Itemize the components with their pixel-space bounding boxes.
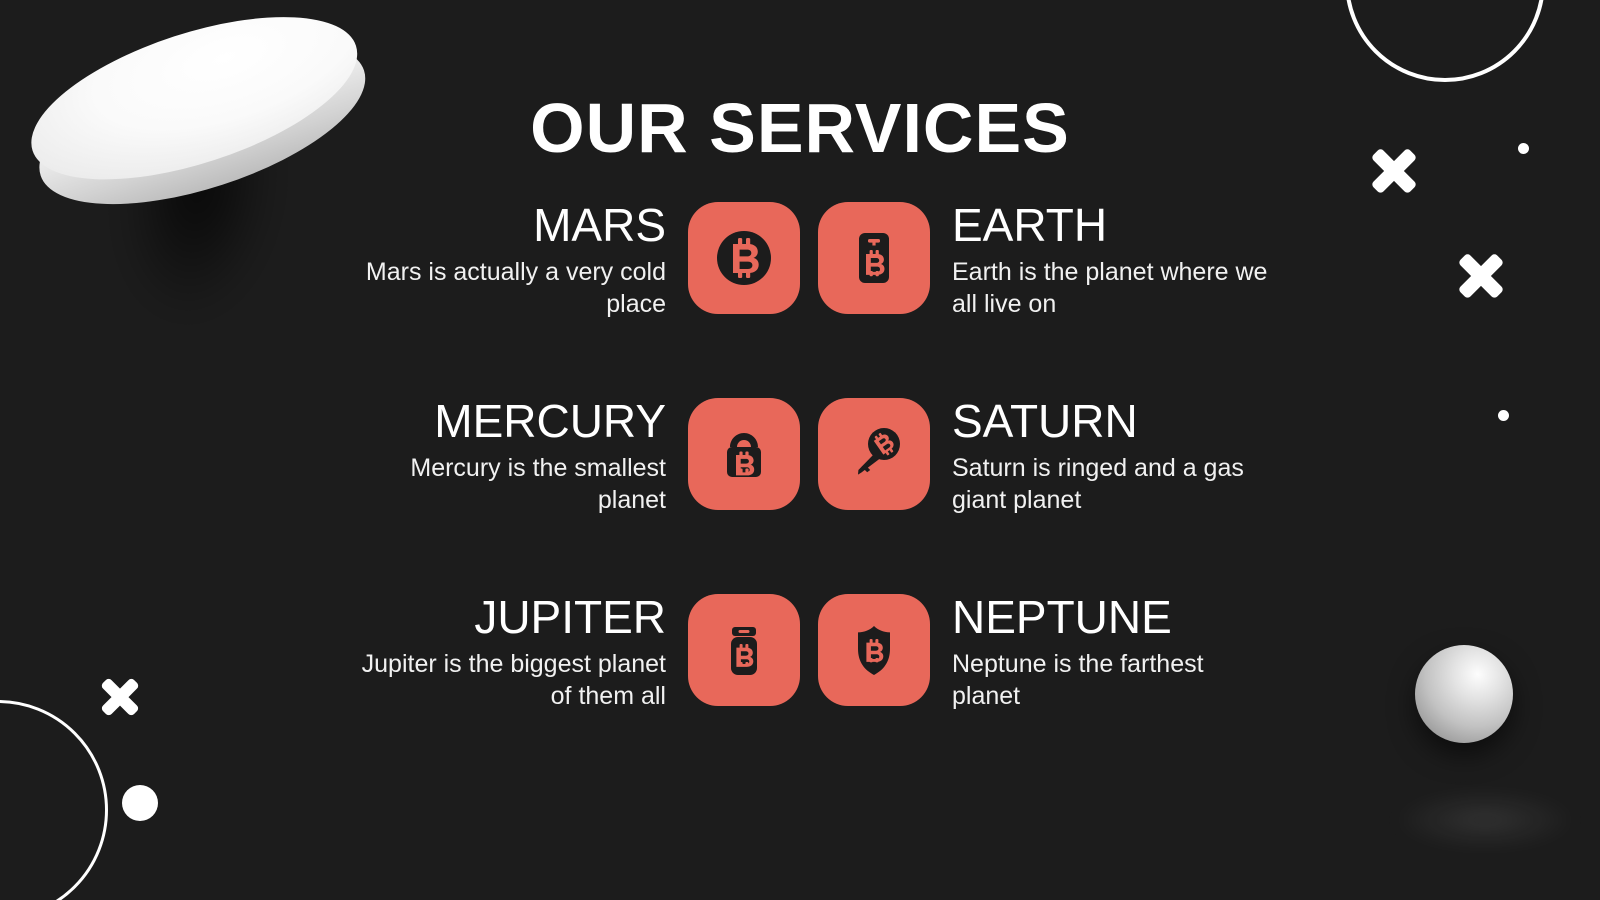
grey-3d-sphere <box>1415 645 1513 743</box>
service-title: EARTH <box>952 202 1272 250</box>
service-description: Mercury is the smallest planet <box>346 452 666 516</box>
bitcoin-card-icon[interactable] <box>818 202 930 314</box>
service-description: Saturn is ringed and a gas giant planet <box>952 452 1272 516</box>
service-description: Earth is the planet where we all live on <box>952 256 1272 320</box>
service-text: SATURN Saturn is ringed and a gas giant … <box>930 392 1272 516</box>
service-item-jupiter[interactable]: JUPITER Jupiter is the biggest planet of… <box>250 588 800 784</box>
slide-canvas: OUR SERVICES MARS Mars is actually a ver… <box>0 0 1600 900</box>
service-item-mercury[interactable]: MERCURY Mercury is the smallest planet <box>250 392 800 588</box>
service-text: MERCURY Mercury is the smallest planet <box>346 392 688 516</box>
service-item-neptune[interactable]: NEPTUNE Neptune is the farthest planet <box>800 588 1350 784</box>
service-description: Mars is actually a very cold place <box>346 256 666 320</box>
service-text: JUPITER Jupiter is the biggest planet of… <box>346 588 688 712</box>
bitcoin-padlock-icon[interactable] <box>688 398 800 510</box>
service-item-saturn[interactable]: SATURN Saturn is ringed and a gas giant … <box>800 392 1350 588</box>
service-text: EARTH Earth is the planet where we all l… <box>930 196 1272 320</box>
services-row: MERCURY Mercury is the smallest planet <box>250 392 1350 588</box>
dot-large <box>122 785 158 821</box>
service-description: Neptune is the farthest planet <box>952 648 1272 712</box>
service-description: Jupiter is the biggest planet of them al… <box>346 648 666 712</box>
sphere-glow <box>1390 790 1580 850</box>
bitcoin-jar-icon[interactable] <box>688 594 800 706</box>
service-title: SATURN <box>952 398 1272 446</box>
page-title: OUR SERVICES <box>0 88 1600 168</box>
service-item-mars[interactable]: MARS Mars is actually a very cold place <box>250 196 800 392</box>
service-title: JUPITER <box>346 594 666 642</box>
service-text: NEPTUNE Neptune is the farthest planet <box>930 588 1272 712</box>
service-text: MARS Mars is actually a very cold place <box>346 196 688 320</box>
bitcoin-shield-icon[interactable] <box>818 594 930 706</box>
services-grid: MARS Mars is actually a very cold place <box>250 196 1350 784</box>
service-title: NEPTUNE <box>952 594 1272 642</box>
service-title: MARS <box>346 202 666 250</box>
services-row: MARS Mars is actually a very cold place <box>250 196 1350 392</box>
service-title: MERCURY <box>346 398 666 446</box>
x-mark-icon <box>1455 250 1507 302</box>
service-item-earth[interactable]: EARTH Earth is the planet where we all l… <box>800 196 1350 392</box>
x-mark-icon <box>98 675 142 719</box>
dot-small-mid-right <box>1498 410 1509 421</box>
services-row: JUPITER Jupiter is the biggest planet of… <box>250 588 1350 784</box>
bitcoin-key-icon[interactable] <box>818 398 930 510</box>
circle-outline-top-right <box>1345 0 1545 82</box>
circle-outline-bottom-left <box>0 700 108 900</box>
bitcoin-coin-icon[interactable] <box>688 202 800 314</box>
